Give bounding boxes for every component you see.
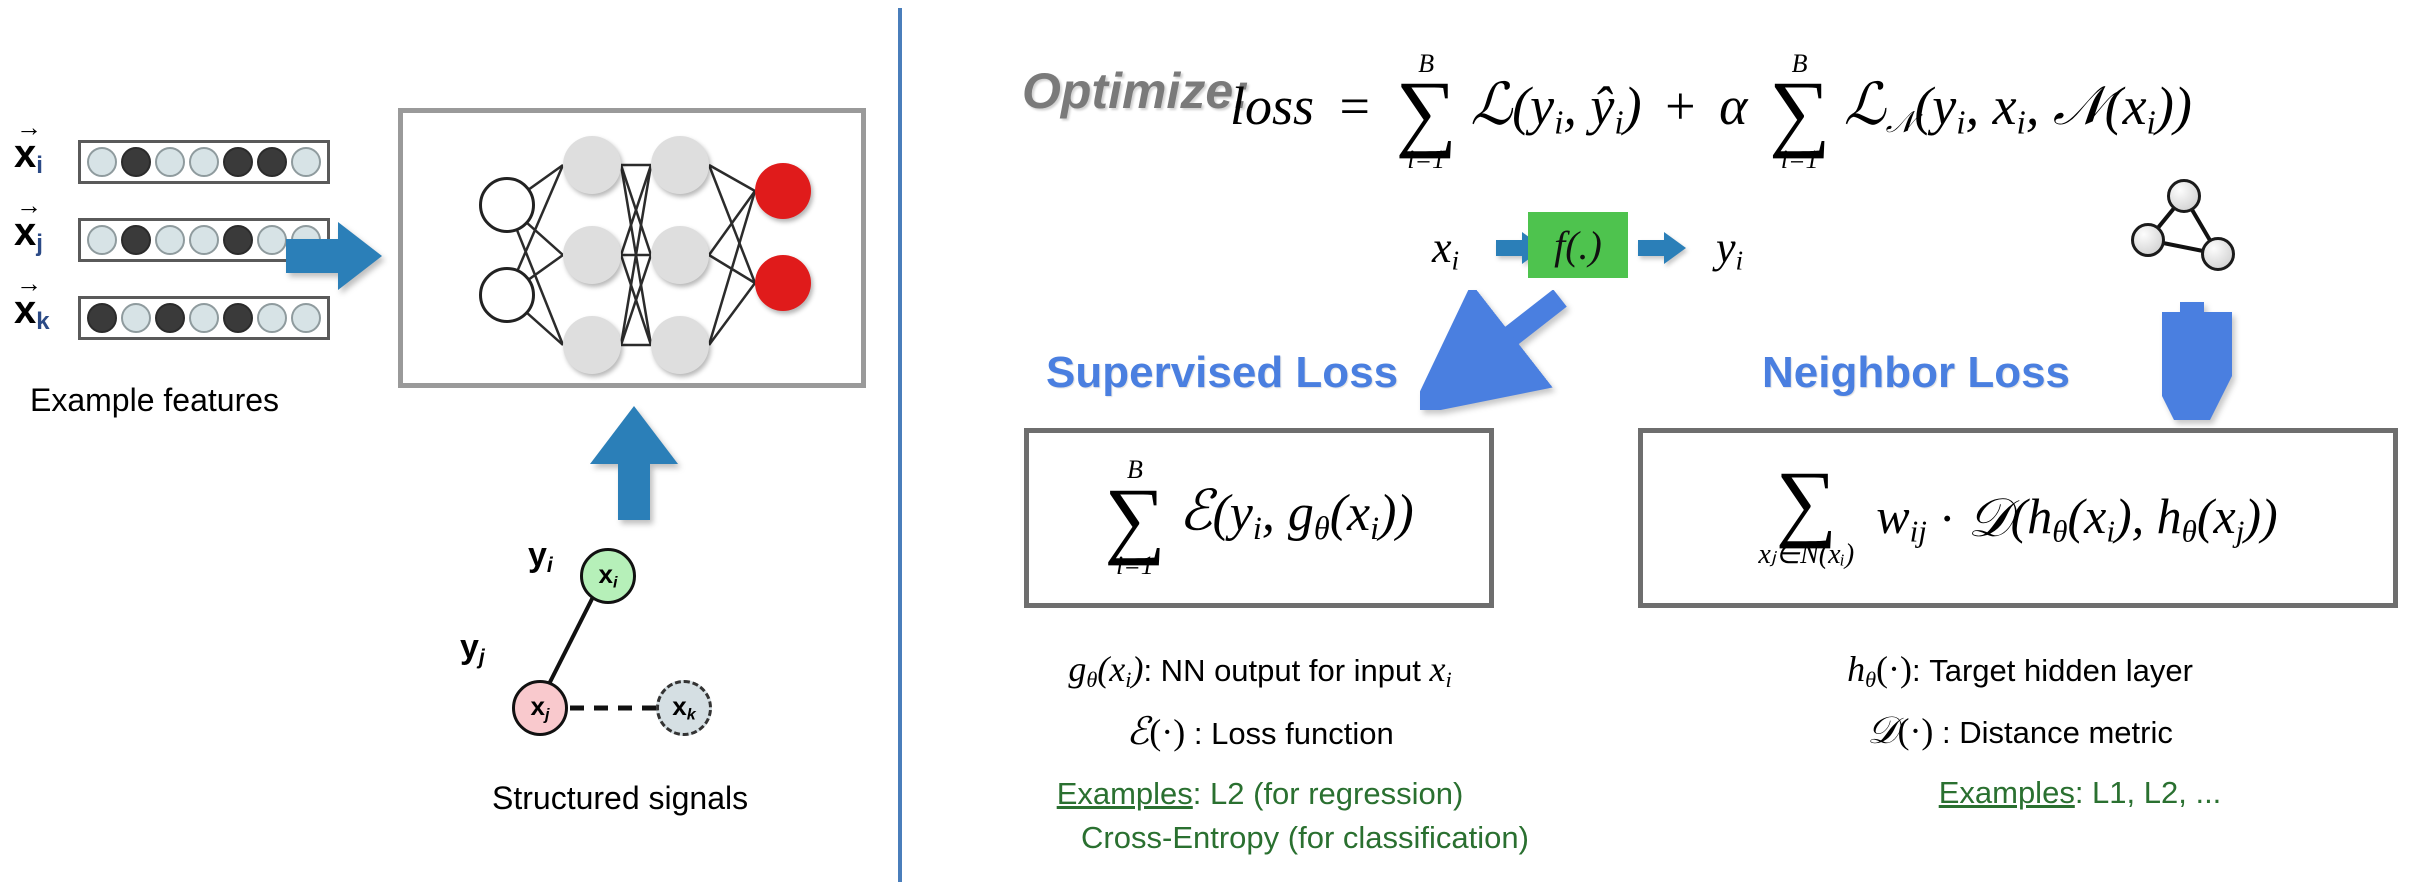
feature-cell bbox=[87, 147, 117, 177]
legend-line: gθ(xi): NN output for input xi bbox=[960, 648, 1560, 693]
feature-cell bbox=[121, 225, 151, 255]
supervised-formula: B ∑ i=1 ℰ(yi, gθ(xi)) bbox=[1104, 456, 1413, 579]
supervised-formula-args: (yi, gθ(xi)) bbox=[1212, 485, 1413, 542]
nn-hidden-node bbox=[651, 136, 709, 194]
supervised-branch-arrow bbox=[1420, 290, 1600, 415]
nn-hidden-node bbox=[651, 316, 709, 374]
summation-1: B ∑ i=1 bbox=[1396, 50, 1457, 173]
supervised-legend: gθ(xi): NN output for input xi ℰ(·) : Lo… bbox=[960, 648, 1560, 856]
nn-output-node bbox=[755, 255, 811, 311]
dot-operator: · bbox=[1939, 489, 1956, 547]
summation-2: B ∑ i=1 bbox=[1769, 50, 1830, 173]
neighbor-branch-arrow bbox=[2162, 300, 2232, 425]
graph-node-label: xj bbox=[531, 691, 550, 725]
triangle-graph-node bbox=[2167, 179, 2201, 213]
feature-cell bbox=[291, 147, 321, 177]
legend-line: hθ(·): Target hidden layer bbox=[1700, 648, 2340, 693]
signals-to-network-arrow bbox=[590, 406, 678, 520]
plus-sign: + bbox=[1665, 76, 1695, 136]
feature-cell bbox=[155, 225, 185, 255]
loss-args-2: (yi, xi, bbox=[1914, 76, 2053, 136]
feature-cell bbox=[257, 225, 287, 255]
legend-args: (·) bbox=[1876, 649, 1912, 689]
function-box[interactable]: f(.) bbox=[1528, 212, 1628, 278]
loss-lhs: loss bbox=[1230, 76, 1314, 136]
neighbor-arrow-svg bbox=[2162, 300, 2232, 420]
flow-arrow-out bbox=[1638, 232, 1686, 264]
examples-label: Examples bbox=[1057, 776, 1193, 811]
legend-text: : NN output for input bbox=[1143, 653, 1429, 688]
graph-node-xk: xk bbox=[656, 680, 712, 736]
vector-subscript: i bbox=[36, 152, 43, 179]
summation-neighbor: ∑ xⱼ∈N(xᵢ) bbox=[1758, 467, 1854, 569]
neighbor-legend: hθ(·): Target hidden layer 𝒟(·) : Distan… bbox=[1700, 648, 2340, 811]
nn-input-node bbox=[479, 267, 535, 323]
feature-cell bbox=[257, 147, 287, 177]
feature-cell bbox=[223, 303, 253, 333]
feature-cell bbox=[121, 147, 151, 177]
flow-input-label: xi bbox=[1432, 222, 1459, 277]
nn-hidden-node bbox=[563, 136, 621, 194]
neighborhood-symbol: 𝒩 bbox=[2053, 76, 2105, 136]
triangle-graph-node bbox=[2131, 223, 2165, 257]
weight-symbol: wij bbox=[1876, 487, 1927, 550]
vector-label-xi: →xi bbox=[14, 120, 43, 178]
vector-label-xk: →xk bbox=[14, 276, 50, 334]
sigma-glyph: ∑ bbox=[1769, 77, 1830, 146]
example-features-caption: Example features bbox=[30, 382, 279, 419]
distance-metric-symbol: 𝒟 bbox=[1968, 487, 2011, 550]
sum-lower-limit: i=1 bbox=[1116, 552, 1154, 579]
legend-line: 𝒟(·) : Distance metric bbox=[1700, 709, 2340, 753]
neighbor-formula-args: (hθ(xi), hθ(xj)) bbox=[2011, 487, 2278, 550]
supervised-examples-line-1: Examples: L2 (for regression) bbox=[960, 776, 1560, 812]
nn-hidden-node bbox=[563, 226, 621, 284]
vector-label-xj: →xj bbox=[14, 198, 43, 256]
feature-cell bbox=[121, 303, 151, 333]
examples-text: : L1, L2, ... bbox=[2075, 775, 2221, 810]
structured-signals-caption: Structured signals bbox=[492, 780, 748, 817]
graph-node-label: xk bbox=[672, 691, 695, 725]
neighbor-loss-symbol: ℒ bbox=[1844, 72, 1886, 137]
nn-input-node bbox=[479, 177, 535, 233]
legend-text: : Distance metric bbox=[1933, 715, 2172, 750]
legend-tail-math: xi bbox=[1430, 649, 1452, 689]
feature-cell bbox=[189, 225, 219, 255]
main-loss-equation: loss = B ∑ i=1 ℒ(yi, ŷi) + α B ∑ i=1 ℒ𝒩(… bbox=[1230, 50, 2192, 173]
examples-label: Examples bbox=[1939, 775, 2075, 810]
g-theta-symbol: gθ(xi) bbox=[1068, 649, 1143, 689]
neighbor-formula: ∑ xⱼ∈N(xᵢ) wij · 𝒟(hθ(xi), hθ(xj)) bbox=[1758, 467, 2277, 569]
vector-subscript: j bbox=[36, 230, 43, 257]
graph-node-yi-label: yi bbox=[528, 536, 553, 578]
supervised-examples-line-2: Cross-Entropy (for classification) bbox=[1050, 820, 1560, 856]
feature-cell bbox=[189, 147, 219, 177]
flow-output-label: yi bbox=[1716, 222, 1743, 277]
feature-cell bbox=[87, 303, 117, 333]
feature-cell bbox=[189, 303, 219, 333]
graph-node-yj-label: yj bbox=[460, 628, 485, 670]
feature-cell bbox=[155, 147, 185, 177]
sum-lower-limit: xⱼ∈N(xᵢ) bbox=[1758, 540, 1854, 569]
feature-vector-xi bbox=[78, 140, 330, 184]
triangle-graph-node bbox=[2201, 237, 2235, 271]
feature-vector-xk bbox=[78, 296, 330, 340]
loss-args-1: (yi, ŷi) bbox=[1512, 76, 1642, 136]
structured-signals-graph: xi yi xj yj xk bbox=[460, 520, 840, 750]
sum-lower-limit: i=1 bbox=[1407, 146, 1445, 173]
graph-node-label: xi bbox=[599, 559, 618, 593]
graph-node-xi: xi bbox=[580, 548, 636, 604]
neighbor-loss-title: Neighbor Loss bbox=[1762, 348, 2070, 398]
legend-line: ℰ(·) : Loss function bbox=[960, 709, 1560, 754]
input-to-network-arrow bbox=[286, 222, 382, 290]
feature-cell bbox=[257, 303, 287, 333]
graph-node-xj: xj bbox=[512, 680, 568, 736]
legend-text: : Target hidden layer bbox=[1912, 653, 2193, 688]
supervised-arrow-svg bbox=[1420, 290, 1600, 410]
loss-symbol: ℰ bbox=[1126, 711, 1149, 753]
supervised-formula-box: B ∑ i=1 ℰ(yi, gθ(xi)) bbox=[1024, 428, 1494, 608]
optimize-label: Optimize: bbox=[1022, 62, 1250, 120]
neighbor-subscript: 𝒩 bbox=[1886, 106, 1915, 139]
nn-hidden-node bbox=[563, 316, 621, 374]
equals-sign: = bbox=[1340, 76, 1370, 136]
feature-cell bbox=[87, 225, 117, 255]
neural-network-box bbox=[398, 108, 866, 388]
loss-function-symbol: ℰ bbox=[1179, 481, 1213, 543]
loss-args-2b: (xi)) bbox=[2105, 76, 2192, 136]
sigma-glyph: ∑ bbox=[1396, 77, 1457, 146]
summation-supervised: B ∑ i=1 bbox=[1104, 456, 1165, 579]
legend-args: (·) bbox=[1897, 711, 1933, 751]
network-edges bbox=[403, 113, 851, 373]
feature-cell bbox=[223, 147, 253, 177]
legend-args: (·) bbox=[1149, 712, 1185, 752]
h-theta-symbol: hθ bbox=[1847, 649, 1876, 689]
feature-cell bbox=[223, 225, 253, 255]
nn-hidden-node bbox=[651, 226, 709, 284]
nn-output-node bbox=[755, 163, 811, 219]
triangle-graph-icon bbox=[2122, 178, 2262, 298]
supervised-loss-symbol: ℒ bbox=[1470, 72, 1512, 137]
sum-lower-limit: i=1 bbox=[1781, 146, 1819, 173]
distance-symbol: 𝒟 bbox=[1867, 710, 1897, 752]
panel-divider bbox=[898, 8, 902, 882]
alpha-symbol: α bbox=[1719, 76, 1747, 136]
feature-cell bbox=[155, 303, 185, 333]
neighbor-formula-box: ∑ xⱼ∈N(xᵢ) wij · 𝒟(hθ(xi), hθ(xj)) bbox=[1638, 428, 2398, 608]
sigma-glyph: ∑ bbox=[1776, 467, 1837, 536]
sigma-glyph: ∑ bbox=[1104, 484, 1165, 553]
examples-text: : L2 (for regression) bbox=[1193, 776, 1464, 811]
legend-text: : Loss function bbox=[1185, 716, 1394, 751]
feature-cell bbox=[291, 303, 321, 333]
neighbor-examples-line: Examples: L1, L2, ... bbox=[1820, 775, 2340, 811]
vector-subscript: k bbox=[36, 308, 49, 335]
supervised-loss-title: Supervised Loss bbox=[1046, 348, 1398, 398]
